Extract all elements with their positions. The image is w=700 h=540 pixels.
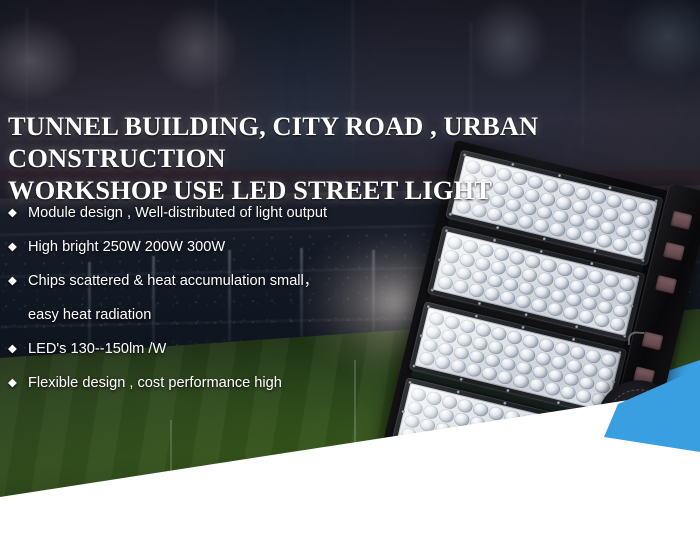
led-lens — [612, 303, 630, 319]
frame-screw — [575, 325, 579, 329]
led-lens — [434, 355, 452, 371]
frame-screw — [521, 326, 525, 330]
list-item-label: Chips scattered & heat accumulation smal… — [28, 271, 318, 291]
led-lens — [487, 339, 505, 355]
led-lens — [517, 214, 535, 230]
led-lens — [540, 258, 558, 274]
page-title: TUNNEL BUILDING, CITY ROAD , URBAN CONST… — [8, 110, 698, 206]
led-lens — [546, 301, 564, 317]
led-lens — [595, 233, 613, 249]
led-lens — [441, 394, 459, 410]
led-lens — [633, 214, 651, 230]
frame-screw — [539, 250, 543, 254]
list-item-continuation: ◆ easy heat radiation — [8, 305, 428, 339]
led-lens — [512, 373, 530, 389]
led-lens — [548, 222, 566, 238]
led-lens — [528, 377, 546, 393]
led-lens — [543, 381, 561, 397]
led-lens — [534, 350, 552, 366]
frame-screw — [623, 334, 627, 338]
list-item: ◆ Chips scattered & heat accumulation sm… — [8, 271, 428, 305]
led-lens — [468, 283, 486, 299]
led-lens — [499, 290, 517, 306]
led-lens — [474, 256, 492, 272]
led-lens — [608, 316, 626, 332]
led-lens — [515, 294, 533, 310]
led-lens — [537, 271, 555, 287]
list-item: ◆ Flexible design , cost performance hig… — [8, 373, 428, 407]
led-lens — [581, 362, 599, 378]
led-lens — [547, 368, 565, 384]
bracket-slot — [641, 331, 663, 350]
led-lens — [450, 358, 468, 374]
frame-screw — [618, 351, 622, 355]
diamond-bullet-icon: ◆ — [8, 203, 28, 223]
bracket-slot — [670, 211, 692, 230]
frame-screw — [630, 304, 634, 308]
frame-screw — [590, 262, 594, 266]
led-lens — [584, 348, 602, 364]
led-lens — [618, 276, 636, 292]
led-lens — [587, 269, 605, 285]
led-lens — [580, 229, 598, 245]
list-item-label: High bright 250W 200W 300W — [28, 237, 225, 257]
led-lens — [440, 262, 458, 278]
led-lens — [630, 227, 648, 243]
led-lens — [488, 405, 506, 421]
led-lens — [593, 313, 611, 329]
feature-list: ◆ Module design , Well-distributed of li… — [8, 203, 428, 407]
led-lens — [537, 337, 555, 353]
led-lens — [521, 267, 539, 283]
frame-screw — [478, 302, 482, 306]
led-lens — [571, 265, 589, 281]
diamond-bullet-icon: ◆ — [8, 237, 28, 257]
led-lens — [472, 402, 490, 418]
led-lens — [403, 413, 421, 429]
led-lens — [611, 237, 629, 253]
frame-screw — [648, 229, 652, 233]
frame-screw — [456, 390, 460, 394]
led-lens — [602, 206, 620, 222]
list-item-label: easy heat radiation — [28, 305, 151, 325]
led-lens — [481, 366, 499, 382]
led-lens — [600, 352, 618, 368]
led-lens — [602, 273, 620, 289]
led-lens — [477, 242, 495, 258]
led-lens — [565, 292, 583, 308]
frame-screw — [572, 338, 576, 342]
led-lens — [490, 326, 508, 342]
led-lens — [564, 226, 582, 242]
frame-screw — [475, 314, 479, 318]
led-lens — [597, 365, 615, 381]
led-lens — [472, 335, 490, 351]
list-item-label: Flexible design , cost performance high — [28, 373, 282, 393]
frame-screw — [524, 313, 528, 317]
led-lens — [440, 328, 458, 344]
led-lens — [459, 318, 477, 334]
led-lens — [475, 322, 493, 338]
led-lens — [452, 279, 470, 295]
led-lens — [552, 275, 570, 291]
led-lens — [518, 347, 536, 363]
led-lens — [493, 246, 511, 262]
led-lens — [584, 282, 602, 298]
bracket-slot — [655, 275, 677, 294]
led-lens — [577, 309, 595, 325]
led-lens — [506, 330, 524, 346]
led-lens — [596, 299, 614, 315]
led-lens — [568, 278, 586, 294]
led-lens — [465, 362, 483, 378]
frame-screw — [496, 226, 500, 230]
frame-screw — [557, 401, 561, 405]
led-lens — [617, 210, 635, 226]
led-lens — [457, 398, 475, 414]
led-lens — [443, 248, 461, 264]
frame-screw — [506, 389, 510, 393]
led-lens — [530, 298, 548, 314]
led-lens — [614, 223, 632, 239]
led-lens — [578, 375, 596, 391]
led-lens — [444, 315, 462, 331]
led-lens — [562, 305, 580, 321]
led-lens — [462, 239, 480, 255]
led-lens — [549, 288, 567, 304]
led-lens — [599, 286, 617, 302]
led-lens — [483, 286, 501, 302]
led-lens — [509, 250, 527, 266]
led-lens — [438, 408, 456, 424]
led-lens — [490, 260, 508, 276]
led-lens — [562, 371, 580, 387]
led-lens — [456, 332, 474, 348]
led-lens — [502, 211, 520, 227]
led-lens — [505, 263, 523, 279]
frame-screw — [593, 249, 597, 253]
product-banner: TUNNEL BUILDING, CITY ROAD , URBAN CONST… — [0, 0, 700, 540]
frame-screw — [430, 288, 434, 292]
led-lens — [580, 296, 598, 312]
led-lens — [459, 252, 477, 268]
led-lens — [559, 385, 577, 401]
frame-screw — [612, 380, 616, 384]
frame-screw — [641, 259, 645, 263]
frame-screw — [493, 238, 497, 242]
led-lens — [575, 388, 593, 404]
led-lens — [531, 364, 549, 380]
led-lens — [567, 212, 585, 228]
led-lens — [522, 333, 540, 349]
diamond-bullet-icon: ◆ — [8, 271, 28, 291]
led-lens — [503, 343, 521, 359]
led-lens — [524, 254, 542, 270]
led-lens — [556, 261, 574, 277]
frame-screw — [636, 275, 640, 279]
diamond-bullet-icon: ◆ — [8, 339, 28, 359]
led-lens — [550, 354, 568, 370]
frame-screw — [449, 212, 453, 216]
list-item: ◆ High bright 250W 200W 300W — [8, 237, 428, 271]
led-lens — [446, 235, 464, 251]
led-lens — [486, 207, 504, 223]
bracket-slot — [663, 242, 685, 261]
led-lens — [569, 345, 587, 361]
led-lens — [583, 216, 601, 232]
led-lens — [533, 218, 551, 234]
frame-screw — [542, 237, 546, 241]
list-item: ◆ Module design , Well-distributed of li… — [8, 203, 428, 237]
led-lens — [436, 275, 454, 291]
frame-screw — [503, 401, 507, 405]
led-lens — [565, 358, 583, 374]
led-lens — [496, 370, 514, 386]
diamond-bullet-icon: ◆ — [8, 373, 28, 393]
list-item-label: LED's 130--150lm /W — [28, 339, 166, 359]
cable-hook — [628, 331, 645, 346]
led-lens — [428, 311, 446, 327]
list-item: ◆ LED's 130--150lm /W — [8, 339, 428, 373]
frame-screw — [459, 378, 463, 382]
led-lens — [627, 241, 645, 257]
list-item-label: Module design , Well-distributed of ligh… — [28, 203, 327, 223]
led-lens — [615, 290, 633, 306]
led-lens — [599, 220, 617, 236]
led-lens — [553, 341, 571, 357]
